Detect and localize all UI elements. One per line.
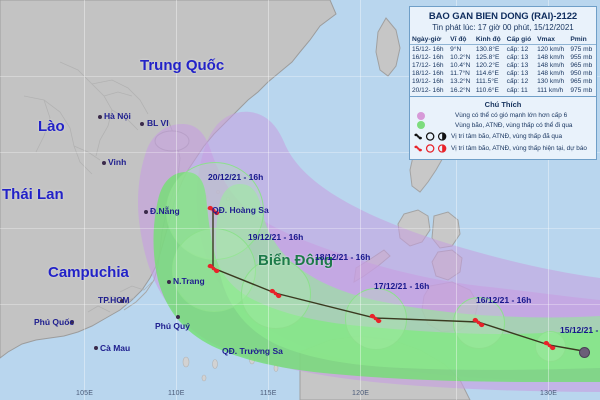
forecast-cell: 111 km/h xyxy=(535,86,568,94)
forecast-cell: 20/12- 16h xyxy=(410,86,448,94)
forecast-cell: 18/12- 16h xyxy=(410,70,448,78)
track-time-label: 19/12/21 - 16h xyxy=(248,232,303,242)
forecast-row: 18/12- 16h11.7°N114.6°Ecấp: 13148 km/h95… xyxy=(410,70,596,78)
forecast-cell: 955 mb xyxy=(568,53,596,61)
city-label: Cà Mau xyxy=(100,343,130,353)
forecast-cell: 965 mb xyxy=(568,61,596,69)
city-marker-dot xyxy=(94,346,98,350)
forecast-col-0: Ngày-giờ xyxy=(410,35,448,45)
city-label: Vinh xyxy=(108,157,126,167)
legend-past-position-icons xyxy=(413,131,447,142)
city-marker-dot xyxy=(98,115,102,119)
forecast-cell: 15/12- 16h xyxy=(410,45,448,54)
forecast-cell: 19/12- 16h xyxy=(410,78,448,86)
legend-current-position-icons xyxy=(413,143,447,154)
forecast-cell: 950 mb xyxy=(568,70,596,78)
bulletin-panel: BAO GAN BIEN DONG (RAI)-2122 Tin phát lú… xyxy=(409,6,597,160)
longitude-tick-label: 120E xyxy=(352,390,369,397)
legend-green-dot-icon xyxy=(413,121,451,129)
city-label: TP.HCM xyxy=(98,295,130,305)
forecast-cell: 11.7°N xyxy=(448,70,474,78)
forecast-table-body: 15/12- 16h9°N130.8°Ecấp: 12120 km/h975 m… xyxy=(410,45,596,95)
legend-pink-dot-icon xyxy=(413,112,451,120)
track-time-label: 18/12/21 - 16h xyxy=(315,252,370,262)
forecast-cell: 114.6°E xyxy=(474,70,505,78)
longitude-tick-label: 115E xyxy=(260,390,277,397)
forecast-col-4: Vmax xyxy=(535,35,568,45)
past-position-marker xyxy=(579,347,590,358)
forecast-cell: 148 km/h xyxy=(535,70,568,78)
island-label: QĐ. Hoàng Sa xyxy=(212,205,269,215)
city-label: Hà Nội xyxy=(104,111,131,121)
storm-position-marker xyxy=(368,311,383,326)
forecast-cell: 148 km/h xyxy=(535,61,568,69)
legend-item: Vùng bão, ATNĐ, vùng thấp có thể đi qua xyxy=(413,121,593,130)
gridline-lon-105 xyxy=(84,0,85,400)
forecast-cell: 965 mb xyxy=(568,78,596,86)
legend-title: Chú Thích xyxy=(413,100,593,111)
forecast-cell: 120.2°E xyxy=(474,61,505,69)
city-label: Đ.Nẵng xyxy=(150,206,180,216)
storm-position-marker xyxy=(471,315,486,330)
city-marker-dot xyxy=(167,280,171,284)
forecast-cell: 125.8°E xyxy=(474,53,505,61)
track-time-label: 15/12/21 - 16h xyxy=(560,325,600,335)
country-label: Trung Quốc xyxy=(140,57,224,74)
forecast-cell: 130.8°E xyxy=(474,45,505,54)
longitude-tick-label: 105E xyxy=(76,390,93,397)
city-marker-dot xyxy=(176,315,180,319)
legend-item: Vị trí tâm bão, ATNĐ, vùng thấp hiện tại… xyxy=(413,142,593,154)
legend-item: Vị trí tâm bão, ATNĐ, vùng thấp đã qua xyxy=(413,130,593,142)
forecast-col-5: Pmin xyxy=(568,35,596,45)
forecast-cell: 9°N xyxy=(448,45,474,54)
legend-item-label: Vị trí tâm bão, ATNĐ, vùng thấp đã qua xyxy=(451,133,562,140)
forecast-row: 15/12- 16h9°N130.8°Ecấp: 12120 km/h975 m… xyxy=(410,45,596,54)
legend-rows: Vùng có thể có gió mạnh lớn hơn cấp 6Vùn… xyxy=(413,111,593,155)
storm-position-marker xyxy=(542,338,557,353)
forecast-cell: 16.2°N xyxy=(448,86,474,94)
forecast-col-3: Cấp gió xyxy=(505,35,535,45)
forecast-cell: cấp: 13 xyxy=(505,53,535,61)
storm-position-marker xyxy=(268,286,283,301)
forecast-cell: 111.5°E xyxy=(474,78,505,86)
city-marker-dot xyxy=(144,210,148,214)
longitude-tick-label: 110E xyxy=(168,390,185,397)
forecast-cell: cấp: 13 xyxy=(505,70,535,78)
city-label: Phú Quý xyxy=(155,321,190,331)
forecast-cell: 975 mb xyxy=(568,86,596,94)
bulletin-title: BAO GAN BIEN DONG (RAI)-2122 xyxy=(410,7,596,23)
forecast-cell: 10.2°N xyxy=(448,53,474,61)
forecast-table-header: Ngày-giờVĩ độKinh độCấp gióVmaxPmin xyxy=(410,35,596,45)
city-label: Phú Quốc xyxy=(34,317,74,327)
country-label: Thái Lan xyxy=(2,186,64,203)
forecast-cell: 975 mb xyxy=(568,45,596,54)
forecast-cell: 120 km/h xyxy=(535,45,568,54)
gridline-lon-120 xyxy=(360,0,361,400)
legend-item: Vùng có thể có gió mạnh lớn hơn cấp 6 xyxy=(413,111,593,120)
typhoon-track-map: Trung QuốcLàoThái LanCampuchiaBiển ĐôngH… xyxy=(0,0,600,400)
forecast-cell: 110.6°E xyxy=(474,86,505,94)
forecast-cell: 17/12- 16h xyxy=(410,61,448,69)
forecast-cell: 13.2°N xyxy=(448,78,474,86)
city-label: BL VI xyxy=(147,118,169,128)
legend-item-label: Vị trí tâm bão, ATNĐ, vùng thấp hiện tại… xyxy=(451,145,587,152)
forecast-row: 17/12- 16h10.4°N120.2°Ecấp: 13148 km/h96… xyxy=(410,61,596,69)
storm-position-marker xyxy=(206,261,221,276)
city-marker-dot xyxy=(102,161,106,165)
longitude-tick-label: 130E xyxy=(540,390,557,397)
forecast-row: 19/12- 16h13.2°N111.5°Ecấp: 12130 km/h96… xyxy=(410,78,596,86)
city-marker-dot xyxy=(140,122,144,126)
forecast-cell: cấp: 12 xyxy=(505,78,535,86)
legend-item-label: Vùng có thể có gió mạnh lớn hơn cấp 6 xyxy=(455,112,567,119)
forecast-row: 16/12- 16h10.2°N125.8°Ecấp: 13148 km/h95… xyxy=(410,53,596,61)
gridline-lat-c xyxy=(0,228,600,229)
bulletin-issue-time: Tin phát lúc: 17 giờ 00 phút, 15/12/2021 xyxy=(410,23,596,35)
country-label: Campuchia xyxy=(48,264,129,281)
forecast-col-2: Kinh độ xyxy=(474,35,505,45)
forecast-cell: 148 km/h xyxy=(535,53,568,61)
forecast-row: 20/12- 16h16.2°N110.6°Ecấp: 11111 km/h97… xyxy=(410,86,596,94)
legend: Chú Thích Vùng có thể có gió mạnh lớn hơ… xyxy=(410,98,596,159)
track-time-label: 17/12/21 - 16h xyxy=(374,281,429,291)
legend-item-label: Vùng bão, ATNĐ, vùng thấp có thể đi qua xyxy=(455,122,572,129)
track-time-label: 20/12/21 - 16h xyxy=(208,172,263,182)
country-label: Lào xyxy=(38,118,65,135)
forecast-cell: cấp: 12 xyxy=(505,45,535,54)
forecast-cell: 10.4°N xyxy=(448,61,474,69)
gridline-lon-115 xyxy=(268,0,269,400)
forecast-col-1: Vĩ độ xyxy=(448,35,474,45)
forecast-cell: cấp: 13 xyxy=(505,61,535,69)
island-label: QĐ. Trường Sa xyxy=(222,346,283,356)
forecast-cell: cấp: 11 xyxy=(505,86,535,94)
forecast-table: Ngày-giờVĩ độKinh độCấp gióVmaxPmin 15/1… xyxy=(410,35,596,94)
forecast-cell: 16/12- 16h xyxy=(410,53,448,61)
track-time-label: 16/12/21 - 16h xyxy=(476,295,531,305)
panel-divider xyxy=(410,96,596,97)
forecast-cell: 130 km/h xyxy=(535,78,568,86)
city-label: N.Trang xyxy=(173,276,205,286)
